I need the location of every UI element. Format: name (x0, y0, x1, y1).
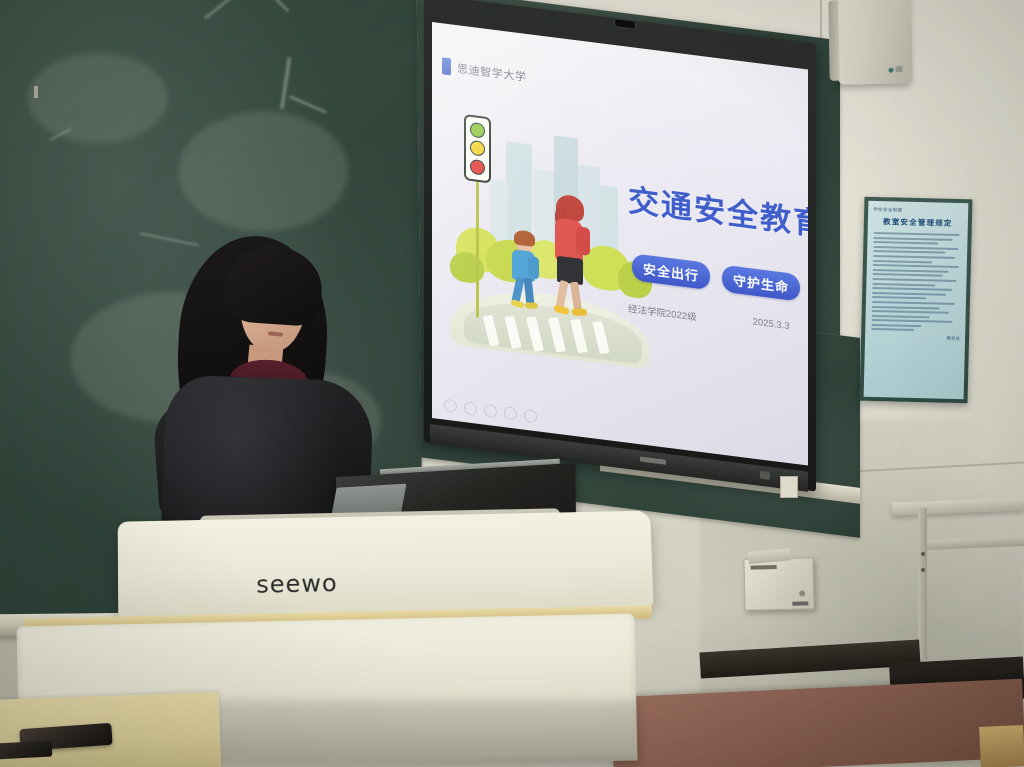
shelf-support-post (918, 508, 927, 660)
slide-logo-text: 思迪智学大学 (457, 60, 527, 85)
slide-logo: 思迪智学大学 (442, 57, 527, 85)
speaker-brand-icon (888, 66, 902, 74)
electrical-box-lock-icon (799, 590, 805, 596)
eraser-icon[interactable] (464, 401, 477, 416)
wall-electrical-box (743, 557, 814, 610)
badge-protect-life: 守护生命 (722, 265, 800, 302)
desk-right-edge (979, 725, 1024, 767)
adult-pedestrian (546, 196, 594, 326)
second-device-on-desk[interactable] (0, 741, 52, 760)
slide-title: 交通安全教育 (628, 175, 808, 245)
traffic-light-yellow (470, 140, 485, 157)
more-icon[interactable] (524, 409, 537, 424)
brand-mark-icon (442, 57, 451, 75)
wall-speaker (837, 0, 913, 85)
traffic-light-icon (464, 114, 491, 183)
traffic-light-red (470, 159, 485, 176)
interactive-smart-display[interactable]: 思迪智学大学 (424, 0, 816, 442)
electrical-box-slot (751, 565, 777, 570)
child-pedestrian (508, 232, 544, 323)
slide-meta: 经法学院2022级 2025.3.3 (628, 301, 790, 335)
crosswalk-safety-illustration (450, 100, 650, 375)
wall-socket (780, 476, 798, 498)
electrical-box-flap (748, 548, 791, 564)
classroom-scene: 思迪智学大学 (0, 0, 1024, 767)
electrical-box-label (792, 601, 808, 605)
notice-header: 学校安全制度 (873, 207, 963, 215)
slide-toolbar[interactable] (444, 399, 537, 424)
display-power-button[interactable] (760, 471, 770, 480)
display-screen[interactable]: 思迪智学大学 (432, 22, 808, 465)
slide-badges: 安全出行 守护生命 (632, 253, 800, 301)
traffic-light-green (470, 122, 485, 139)
pen-tool-icon[interactable] (444, 399, 457, 414)
display-brand-icon (640, 457, 666, 465)
podium-top-surface: seewo (118, 511, 654, 618)
podium-brand-label: seewo (256, 569, 338, 599)
wall-regulations-notice: 学校安全制度 教室安全管理规定 教务处 (860, 197, 973, 404)
speaker-mount (34, 86, 38, 98)
slide-date: 2025.3.3 (753, 317, 790, 336)
notice-signature: 教务处 (870, 334, 960, 342)
pointer-icon[interactable] (484, 404, 497, 419)
speaker-side-panel (828, 1, 839, 81)
notice-title: 教室安全管理规定 (873, 216, 963, 229)
shapes-icon[interactable] (504, 406, 517, 421)
